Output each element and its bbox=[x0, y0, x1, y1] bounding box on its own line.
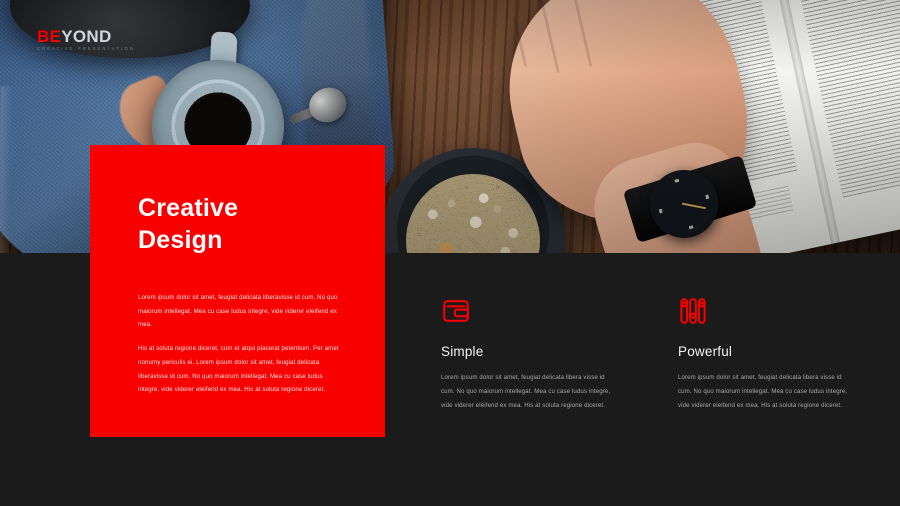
logo-tagline: creative presentation bbox=[37, 47, 135, 51]
grains bbox=[406, 174, 540, 253]
feature-text: Lorem ipsum dolor sit amet, feugiat deli… bbox=[441, 371, 614, 413]
page-title: Creative Design bbox=[138, 193, 345, 256]
book-text-column bbox=[794, 0, 900, 199]
logo-word-part-two: YOND bbox=[61, 27, 111, 46]
wallet-icon bbox=[441, 296, 614, 330]
feature-title: Powerful bbox=[678, 344, 851, 359]
hero-red-panel: Creative Design Lorem ipsum dolor sit am… bbox=[90, 145, 385, 437]
feature-columns: Simple Lorem ipsum dolor sit amet, feugi… bbox=[441, 296, 851, 413]
logo-wordmark: BEYOND bbox=[37, 28, 135, 45]
feature-text: Lorem ipsum dolor sit amet, feugiat deli… bbox=[678, 371, 851, 413]
logo-word-part-one: BE bbox=[37, 27, 61, 46]
sliders-icon bbox=[678, 296, 851, 330]
brand-logo[interactable]: BEYOND creative presentation bbox=[37, 28, 135, 51]
hero-body-text: Lorem ipsum dolor sit amet, feugiat deli… bbox=[138, 291, 345, 397]
hero-paragraph: Lorem ipsum dolor sit amet, feugiat deli… bbox=[138, 291, 339, 332]
feature-card-powerful: Powerful Lorem ipsum dolor sit amet, feu… bbox=[678, 296, 851, 413]
presentation-slide: BEYOND creative presentation Creative De… bbox=[0, 0, 900, 506]
feature-title: Simple bbox=[441, 344, 614, 359]
hero-paragraph: His at soluta regione diceret, cum et at… bbox=[138, 342, 339, 397]
feature-card-simple: Simple Lorem ipsum dolor sit amet, feugi… bbox=[441, 296, 614, 413]
